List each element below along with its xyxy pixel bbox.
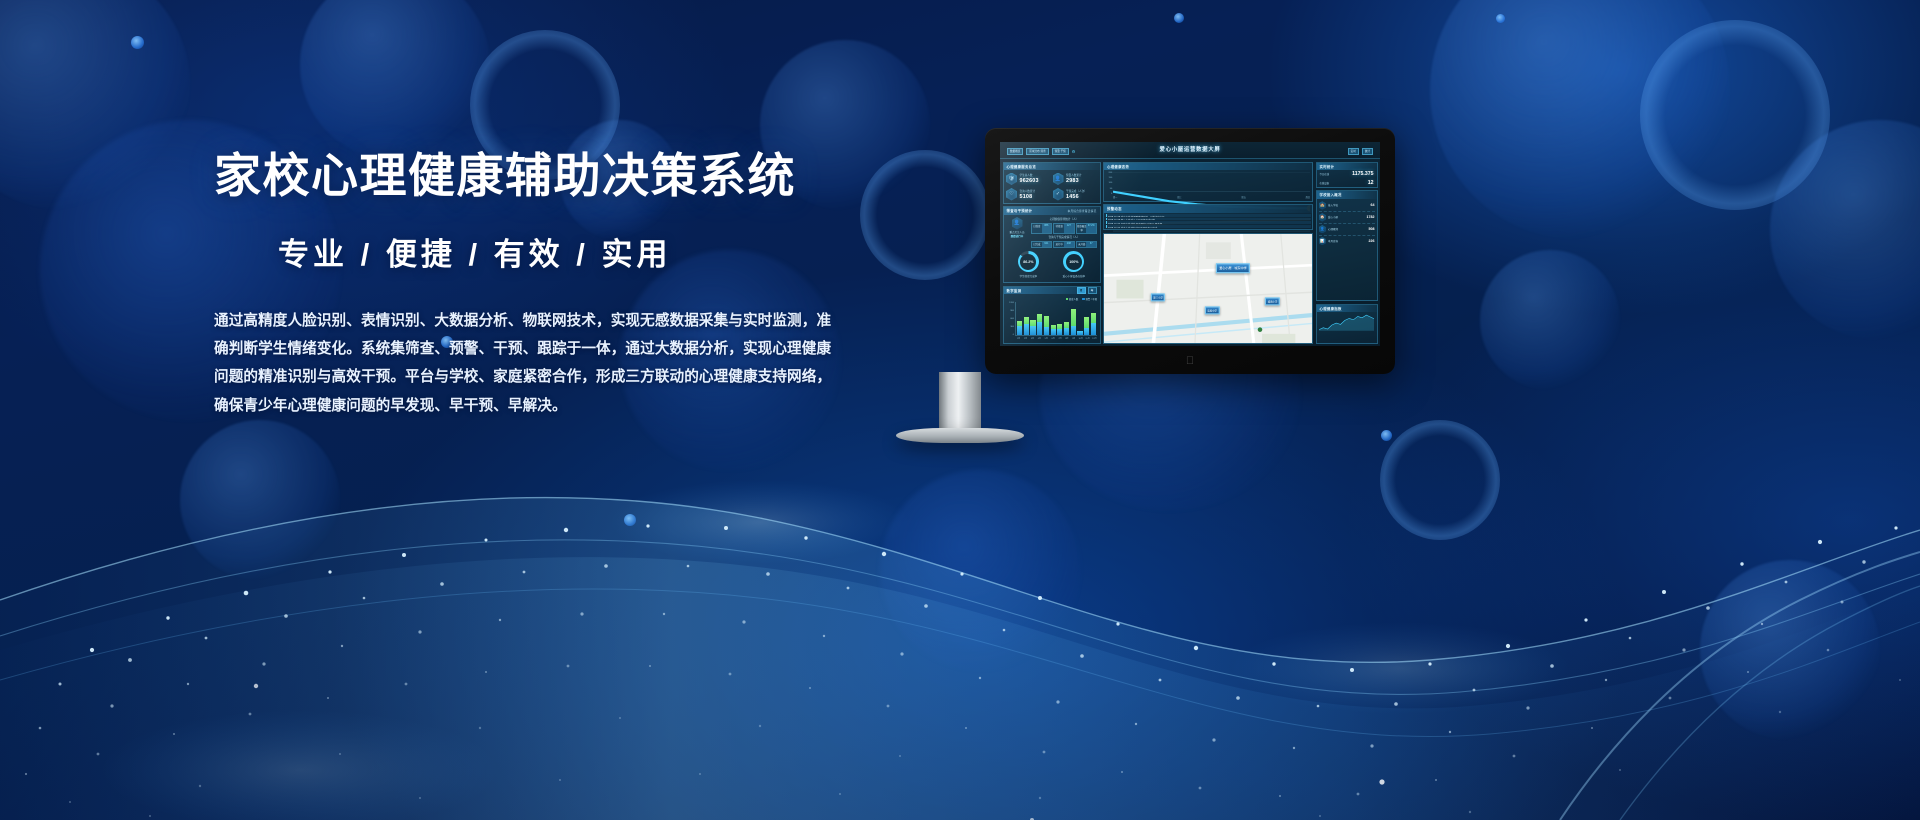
card-kpi: 实时统计 今日在线 1175.375 在线设备 12 (1316, 162, 1378, 188)
card-overview-header: 心理健康服务总览 (1004, 163, 1100, 171)
cell-value: 37 (1086, 242, 1096, 247)
bar-chart-bar (1024, 302, 1029, 336)
bar-segment-intervention (1030, 326, 1035, 336)
card-bar-chart-title: 数字监测 (1007, 288, 1022, 293)
dashboard-nav-chip[interactable]: 数据概览 (1007, 148, 1023, 156)
list-item: 🏠 爱心小屋 1782 (1319, 212, 1375, 224)
cell-value: 208 (1064, 242, 1074, 247)
y-tick: 50 (1106, 188, 1112, 190)
card-line-chart: 心理健康态势 200 150 100 50 0 (1103, 162, 1313, 202)
list-item: 📊 本月咨询 226 (1319, 236, 1375, 247)
sparkline (1319, 314, 1375, 341)
gauge-ring: 100% (1063, 251, 1084, 272)
card-line-chart-header: 心理健康态势 (1104, 163, 1312, 171)
stat-label: 预警人数累计 (1066, 173, 1082, 177)
gauge-label: 爱心小屋设备在线率 (1063, 274, 1086, 278)
dashboard-header: 数据概览 区域分布 筛查 预警 干预 ⚙ 爱心小屋运营数据大屏 实时 统计 (1000, 142, 1380, 159)
map-marker[interactable]: 爱心小屋 · 城东中学 (1216, 263, 1250, 273)
card-logs: 预警动态 2025-01-08 城东中学 检测到情绪异常，已推送班主任2025-… (1103, 204, 1313, 230)
x-tick: 11月 (1085, 337, 1090, 340)
bar-segment-screening (1071, 309, 1076, 326)
card-overview-body: 🛡 学生总人数 962603 👤 (1004, 170, 1100, 203)
list-item-value: 64 (1371, 203, 1375, 207)
card-bar-chart-body: 筛查人数 预警 / 干预 1200 900 600 300 (1004, 294, 1100, 343)
stat-grid: 🛡 学生总人数 962603 👤 (1006, 173, 1097, 201)
list-item: 👤 心理教师 508 (1319, 224, 1375, 236)
stat-item: ✓ 干预完成（人次） 1456 (1053, 188, 1098, 201)
card-screening-header: 筛查与干预统计 本月综合筛查覆盖情况 (1004, 207, 1100, 215)
screening-table-group: 心理健康筛查统计（人） 已筛查886 待筛查127 筛查覆盖率97.2% 咨询与… (1031, 217, 1097, 248)
cell-key: 待筛查 (1054, 224, 1064, 233)
bokeh-circle (880, 470, 1080, 670)
heart-icon: ♡ (1006, 188, 1017, 201)
cell-key: 已完成 (1032, 242, 1042, 247)
bokeh-circle (0, 0, 190, 210)
bar-chart-bar (1077, 302, 1082, 336)
focus-person: 👤 重点关注人员 跟踪进行中 (1006, 217, 1028, 248)
sparkline-svg (1319, 314, 1375, 331)
hero-description: 通过高精度人脸识别、表情识别、大数据分析、物联网技术，实现无感数据采集与实时监测… (214, 307, 839, 419)
list-item-value: 508 (1369, 227, 1375, 231)
apple-logo:  (1186, 356, 1194, 367)
bar-segment-screening (1091, 313, 1096, 323)
legend-label: 预警 / 干预 (1085, 298, 1097, 301)
dashboard-nav-chip[interactable]: 预警 干预 (1052, 148, 1069, 156)
gauge-value: 86.2% (1023, 260, 1033, 264)
x-tick: 3月 (1030, 337, 1035, 340)
bokeh-dot (1174, 13, 1184, 23)
bar-segment-intervention (1044, 327, 1049, 335)
bar-chart-bar (1064, 302, 1069, 336)
gauge: 100% 爱心小屋设备在线率 (1063, 251, 1086, 278)
map-marker[interactable]: 实验中学 (1205, 307, 1219, 315)
y-tick: 300 (1006, 326, 1014, 328)
bokeh-circle (1640, 20, 1830, 210)
dashboard-action-chip[interactable]: 统计 (1362, 148, 1373, 156)
gauge-value: 100% (1069, 260, 1078, 264)
cell-key: 未开始 (1077, 242, 1087, 247)
stat-label: 学生总人数 (1020, 173, 1039, 177)
map-marker[interactable]: 城南小学 (1265, 298, 1279, 306)
hero-subtitle: 专业 / 便捷 / 有效 / 实用 (214, 229, 894, 274)
legend-item: 筛查人数 (1066, 297, 1079, 301)
card-screening-body: 👤 重点关注人员 跟踪进行中 心理健康筛查统计（人） 已筛查886 待筛 (1004, 215, 1100, 283)
map-vector (1104, 234, 1312, 343)
card-map: 爱心小屋 · 城东中学 第三小学 实验中学 城南小学 (1103, 233, 1313, 344)
dashboard: 数据概览 区域分布 筛查 预警 干预 ⚙ 爱心小屋运营数据大屏 实时 统计 (1000, 142, 1380, 346)
bokeh-circle (180, 420, 340, 580)
bar-chart-bar (1084, 302, 1089, 336)
bar-segment-screening (1044, 316, 1049, 327)
line-chart: 200 150 100 50 0 (1106, 172, 1310, 196)
stat-item: 🛡 学生总人数 962603 (1006, 173, 1051, 186)
dashboard-right-column: 实时统计 今日在线 1175.375 在线设备 12 (1316, 162, 1378, 344)
card-sparkline-header: 心理健康指数 (1317, 305, 1377, 313)
screening-tables: 👤 重点关注人员 跟踪进行中 心理健康筛查统计（人） 已筛查886 待筛 (1006, 217, 1097, 248)
bar-chart-bar (1057, 302, 1062, 336)
line-chart-plot (1113, 172, 1310, 196)
dashboard-left-column: 心理健康服务总览 🛡 学生总人数 962603 (1003, 162, 1101, 344)
cell-key: 筛查覆盖率 (1077, 224, 1087, 233)
bokeh-circle (1430, 0, 1730, 240)
list-item-label: 心理教师 (1328, 227, 1367, 231)
x-tick: 2月 (1023, 337, 1028, 340)
monitor-base (896, 428, 1024, 443)
cell-value: 641 (1042, 242, 1052, 247)
bokeh-circle (300, 0, 490, 160)
monitor-neck (939, 372, 981, 434)
home-icon: 🏠 (1319, 213, 1327, 222)
card-school-list-header: 学校接入概况 (1317, 191, 1377, 199)
gauge-label: 学生筛查完成率 (1020, 274, 1038, 278)
map-marker[interactable]: 第三小学 (1151, 293, 1165, 301)
dashboard-actions[interactable]: 实时 统计 (1348, 148, 1373, 156)
y-tick: 100 (1106, 182, 1112, 184)
kpi-label: 今日在线 (1320, 172, 1330, 176)
log-row[interactable]: 2025-01-08 城东中学 检测到情绪异常，已推送班主任 (1106, 214, 1311, 217)
check-icon: ✓ (1053, 188, 1064, 201)
bar-chart-bar (1051, 302, 1056, 336)
card-bar-chart: 数字监测 月 年 筛查人数 预警 / 干预 (1003, 286, 1101, 344)
bar-segment-intervention (1017, 326, 1022, 335)
bar-segment-intervention (1037, 322, 1042, 336)
log-row[interactable]: 2025-01-07 实验中学 学生咨询预约已分配心理老师 (1106, 221, 1311, 224)
card-overview: 心理健康服务总览 🛡 学生总人数 962603 (1003, 162, 1101, 204)
chart-icon: 📊 (1319, 237, 1327, 246)
list-item-label: 爱心小屋 (1328, 215, 1365, 219)
card-screening-title: 筛查与干预统计 (1007, 208, 1033, 213)
bar-segment-screening (1037, 314, 1042, 322)
gauge: 86.2% 学生筛查完成率 (1018, 251, 1039, 278)
list-item-label: 接入学校 (1328, 203, 1369, 207)
card-screening-note: 本月综合筛查覆盖情况 (1068, 209, 1097, 213)
log-row[interactable]: 2025-01-07 城南小学 家校协同干预任务已完成 (1106, 225, 1311, 228)
bokeh-circle (1770, 120, 1920, 340)
bokeh-circle (1700, 560, 1880, 740)
hero-text-block: 家校心理健康辅助决策系统 专业 / 便捷 / 有效 / 实用 通过高精度人脸识别… (214, 148, 894, 420)
bar-segment-screening (1084, 317, 1089, 328)
stat-item: 👤 预警人数累计 2983 (1053, 173, 1098, 186)
stat-label: 咨询人数累计 (1020, 189, 1036, 193)
table-row: 已筛查886 待筛查127 筛查覆盖率97.2% (1031, 223, 1097, 234)
stat-item: ♡ 咨询人数累计 5108 (1006, 188, 1051, 201)
x-tick: 12月 (1092, 337, 1097, 340)
user-icon: 👤 (1053, 173, 1064, 186)
focus-person-status: 跟踪进行中 (1011, 235, 1024, 238)
monitor-screen: 数据概览 区域分布 筛查 预警 干预 ⚙ 爱心小屋运营数据大屏 实时 统计 (1000, 142, 1380, 346)
bokeh-dot (131, 36, 144, 49)
x-tick: 7月 (1057, 337, 1062, 340)
y-tick: 200 (1106, 172, 1112, 174)
bar-segment-intervention (1057, 329, 1062, 336)
legend-label: 筛查人数 (1069, 298, 1079, 301)
stat-value: 5108 (1020, 194, 1036, 200)
table-row: 已完成641 进行中208 未开始37 (1031, 241, 1097, 248)
dashboard-action-chip[interactable]: 实时 (1348, 148, 1359, 156)
gear-icon[interactable]: ⚙ (1072, 149, 1076, 154)
bar-chart-bars (1015, 302, 1097, 337)
stat-value: 1456 (1066, 194, 1087, 200)
log-list[interactable]: 2025-01-08 城东中学 检测到情绪异常，已推送班主任2025-01-08… (1106, 214, 1311, 228)
kpi-item: 在线设备 12 (1319, 178, 1375, 187)
stat-label: 干预完成（人次） (1066, 189, 1087, 193)
bokeh-dot (624, 514, 636, 526)
list-item-label: 本月咨询 (1328, 239, 1367, 243)
bokeh-circle (1480, 250, 1620, 390)
focus-person-label: 重点关注人员 (1009, 231, 1024, 234)
card-logs-header: 预警动态 (1104, 205, 1312, 213)
bar-segment-intervention (1064, 328, 1069, 336)
y-tick: 1200 (1006, 302, 1014, 304)
cell-value: 886 (1042, 224, 1052, 233)
stat-value: 962603 (1020, 178, 1039, 184)
tab-year[interactable]: 年 (1088, 287, 1097, 294)
bar-chart-bar (1017, 302, 1022, 336)
dashboard-nav-chip[interactable]: 区域分布 筛查 (1026, 148, 1048, 156)
list-item-value: 1782 (1367, 215, 1375, 219)
bar-chart-plot-area: 1200 900 600 300 0 (1006, 302, 1097, 337)
y-tick: 150 (1106, 177, 1112, 179)
table-caption: 咨询与干预完成情况（人） (1031, 235, 1097, 239)
stat-value: 2983 (1066, 178, 1082, 184)
x-tick: 10月 (1078, 337, 1083, 340)
bar-segment-intervention (1024, 324, 1029, 335)
gauge-ring: 86.2% (1018, 251, 1039, 272)
cell-value: 97.2% (1086, 224, 1096, 233)
card-school-list-body: 🏫 接入学校 64 🏠 爱心小屋 1782 (1317, 199, 1377, 301)
bar-segment-intervention (1071, 326, 1076, 335)
card-screening: 筛查与干预统计 本月综合筛查覆盖情况 👤 重点关注人员 跟踪进行中 (1003, 206, 1101, 283)
tab-month[interactable]: 月 (1077, 287, 1086, 294)
bar-segment-intervention (1051, 329, 1056, 335)
dashboard-nav[interactable]: 数据概览 区域分布 筛查 预警 干预 ⚙ (1007, 148, 1075, 156)
dashboard-body: 心理健康服务总览 🛡 学生总人数 962603 (1000, 159, 1380, 346)
log-row[interactable]: 2025-01-08 第三小学 爱心小屋设备完成日检 (1106, 218, 1311, 221)
bar-chart: 筛查人数 预警 / 干预 1200 900 600 300 (1006, 297, 1097, 341)
line-chart-y-axis: 200 150 100 50 0 (1106, 172, 1113, 196)
card-sparkline: 心理健康指数 (1316, 304, 1378, 344)
card-kpi-body: 今日在线 1175.375 在线设备 12 (1317, 170, 1377, 187)
bar-segment-intervention (1077, 331, 1082, 335)
x-tick: 5月 (1044, 337, 1049, 340)
bokeh-circle (1380, 420, 1500, 540)
kpi-value: 1175.375 (1352, 171, 1373, 177)
bar-segment-screening (1024, 317, 1029, 324)
bar-segment-intervention (1091, 323, 1096, 335)
legend-swatch (1066, 298, 1068, 300)
gauge-group: 86.2% 学生筛查完成率 100% 爱心小屋设备在线率 (1006, 248, 1097, 280)
x-tick: 4月 (1037, 337, 1042, 340)
bokeh-dot (1381, 430, 1392, 441)
cell-key: 进行中 (1054, 242, 1064, 247)
card-bar-chart-header: 数字监测 月 年 (1004, 287, 1100, 295)
y-tick: 900 (1006, 310, 1014, 312)
x-tick: 8月 (1064, 337, 1069, 340)
user-icon: 👤 (1319, 225, 1327, 234)
bar-chart-tabs[interactable]: 月 年 (1077, 287, 1097, 294)
card-logs-body: 2025-01-08 城东中学 检测到情绪异常，已推送班主任2025-01-08… (1104, 213, 1312, 230)
card-line-chart-body: 200 150 100 50 0 (1104, 170, 1312, 201)
bar-chart-bar (1071, 302, 1076, 336)
bar-chart-bar (1044, 302, 1049, 336)
header-divider (1019, 157, 1361, 158)
monitor-display: 数据概览 区域分布 筛查 预警 干预 ⚙ 爱心小屋运营数据大屏 实时 统计 (985, 128, 1395, 374)
list-item-value: 226 (1369, 239, 1375, 243)
card-school-list: 学校接入概况 🏫 接入学校 64 🏠 爱心小屋 (1316, 190, 1378, 301)
card-sparkline-body (1317, 312, 1377, 343)
shield-icon: 🛡 (1006, 173, 1017, 186)
table-caption: 心理健康筛查统计（人） (1031, 217, 1097, 221)
list-item: 🏫 接入学校 64 (1319, 200, 1375, 212)
bokeh-dot (1496, 14, 1505, 23)
school-icon: 🏫 (1319, 201, 1327, 210)
dashboard-title: 爱心小屋运营数据大屏 (1160, 145, 1221, 153)
x-tick: 6月 (1050, 337, 1055, 340)
y-tick: 600 (1006, 318, 1014, 320)
bar-chart-x-axis: 1月2月3月4月5月6月7月8月9月10月11月12月 (1006, 336, 1097, 340)
kpi-value: 12 (1368, 180, 1374, 186)
hero-banner: 家校心理健康辅助决策系统 专业 / 便捷 / 有效 / 实用 通过高精度人脸识别… (0, 0, 1920, 820)
user-icon: 👤 (1012, 217, 1023, 230)
x-tick: 1月 (1016, 337, 1021, 340)
cell-key: 已筛查 (1032, 224, 1042, 233)
x-tick: 9月 (1071, 337, 1076, 340)
region-map[interactable]: 爱心小屋 · 城东中学 第三小学 实验中学 城南小学 (1104, 234, 1312, 343)
kpi-label: 在线设备 (1320, 181, 1330, 185)
dashboard-center-column: 心理健康态势 200 150 100 50 0 (1103, 162, 1313, 344)
bar-chart-bar (1037, 302, 1042, 336)
bar-segment-intervention (1084, 328, 1089, 336)
bar-chart-bar (1091, 302, 1096, 336)
kpi-item: 今日在线 1175.375 (1319, 169, 1375, 178)
cell-value: 127 (1064, 224, 1074, 233)
legend-item: 预警 / 干预 (1082, 297, 1097, 301)
bar-chart-bar (1030, 302, 1035, 336)
bar-chart-y-axis: 1200 900 600 300 0 (1006, 302, 1015, 337)
page-title: 家校心理健康辅助决策系统 (214, 148, 894, 203)
